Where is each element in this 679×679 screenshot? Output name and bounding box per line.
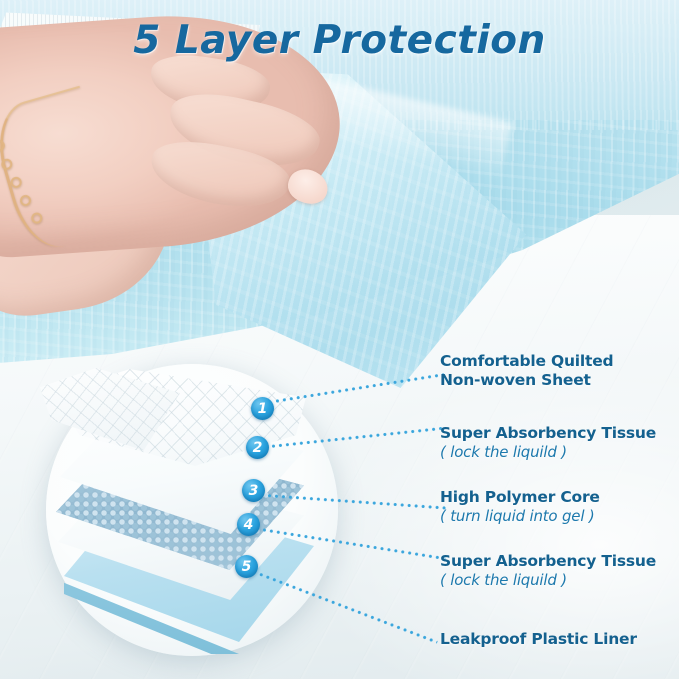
label-layer-1: Comfortable Quilted Non-woven Sheet — [440, 352, 613, 390]
label-layer-2-sub: ( lock the liquild ) — [440, 443, 656, 462]
label-layer-4: Super Absorbency Tissue ( lock the liqui… — [440, 552, 656, 590]
label-layer-4-sub: ( lock the liquild ) — [440, 571, 656, 590]
layer-stack — [46, 364, 338, 656]
label-layer-2-line1: Super Absorbency Tissue — [440, 424, 656, 443]
label-layer-3: High Polymer Core ( turn liquid into gel… — [440, 488, 600, 526]
label-layer-4-line1: Super Absorbency Tissue — [440, 552, 656, 571]
badge-layer-4[interactable]: 4 — [237, 513, 260, 536]
infographic-stage: 1 2 3 4 5 5 Layer Protection Comfortable… — [0, 0, 679, 679]
label-layer-5-line1: Leakproof Plastic Liner — [440, 630, 637, 649]
label-layer-1-line1: Comfortable Quilted — [440, 352, 613, 371]
badge-layer-2[interactable]: 2 — [246, 436, 269, 459]
page-title: 5 Layer Protection — [0, 18, 679, 63]
label-layer-2: Super Absorbency Tissue ( lock the liqui… — [440, 424, 656, 462]
label-layer-3-line1: High Polymer Core — [440, 488, 600, 507]
badge-layer-3[interactable]: 3 — [242, 479, 265, 502]
badge-layer-5[interactable]: 5 — [235, 555, 258, 578]
label-layer-1-line2: Non-woven Sheet — [440, 371, 613, 390]
badge-layer-1[interactable]: 1 — [251, 397, 274, 420]
label-layer-5: Leakproof Plastic Liner — [440, 630, 637, 649]
label-layer-3-sub: ( turn liquid into gel ) — [440, 507, 600, 526]
